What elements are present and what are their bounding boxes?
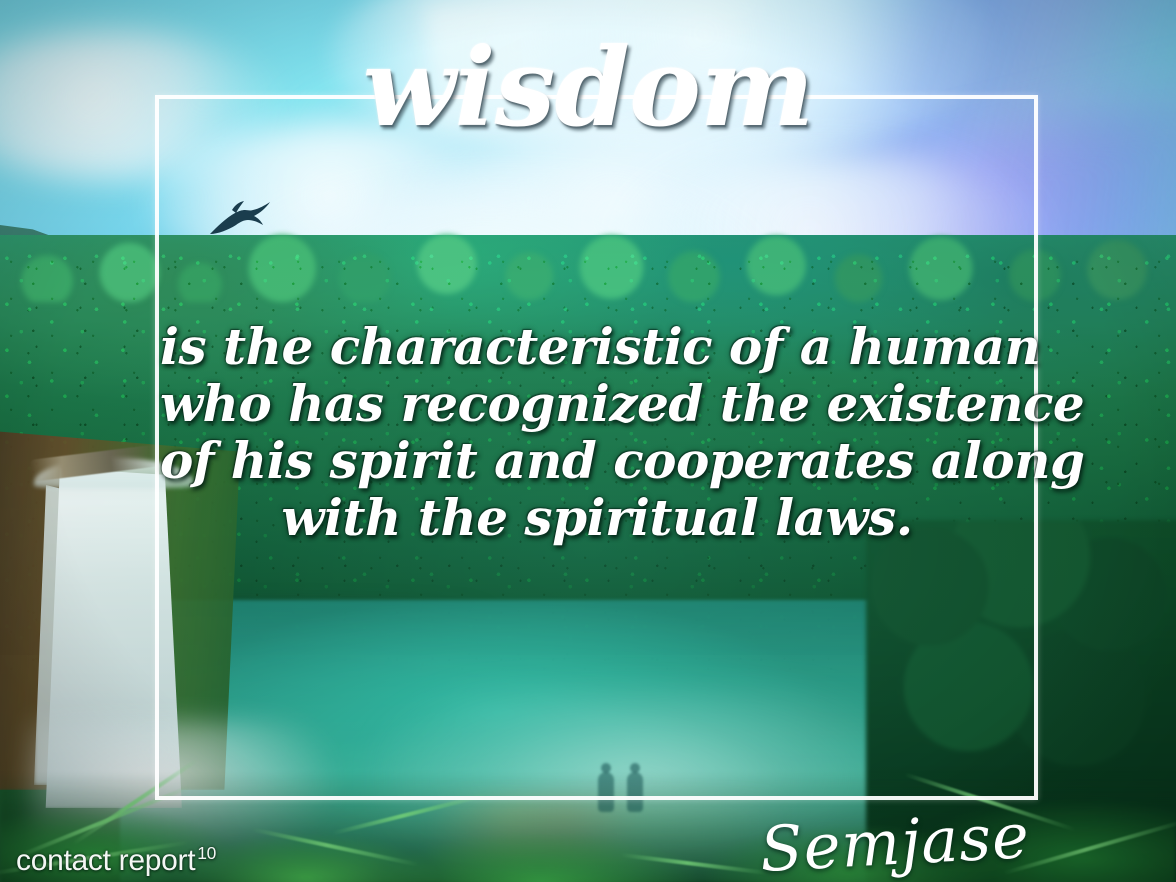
wisdom-quote-poster: wisdom is the characteristic of a human … xyxy=(0,0,1176,882)
quote-line: who has recognized the existence xyxy=(160,375,1034,432)
signature: Semjase xyxy=(758,799,1031,882)
source-number: 10 xyxy=(197,843,216,863)
quote-text: is the characteristic of a human who has… xyxy=(160,318,1034,546)
quote-line: of his spirit and cooperates along xyxy=(160,432,1034,489)
bather-figure xyxy=(598,772,614,812)
quote-line: is the characteristic of a human xyxy=(160,318,1034,375)
source-label: contact report xyxy=(16,844,195,877)
bather-figure xyxy=(627,772,643,812)
source-attribution: contact report10 xyxy=(16,843,216,878)
quote-line: with the spiritual laws. xyxy=(160,489,1034,546)
page-title: wisdom xyxy=(0,34,1176,142)
